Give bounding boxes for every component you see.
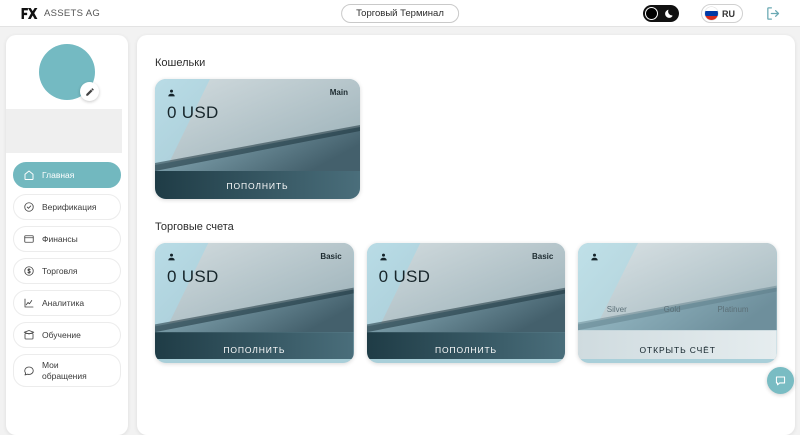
account-card[interactable]: Basic 0 USD ПОПОЛНИТЬ — [155, 243, 354, 363]
wallet-tier-label: Main — [330, 88, 348, 97]
sidebar-item-verification[interactable]: Верификация — [13, 194, 121, 220]
check-circle-icon — [23, 201, 35, 213]
sidebar-item-finances[interactable]: Финансы — [13, 226, 121, 252]
avatar-edit-button[interactable] — [80, 82, 99, 101]
profile-block — [6, 35, 128, 103]
sidebar-item-label: Финансы — [42, 234, 78, 244]
header-actions: RU — [643, 0, 782, 27]
account-balance: 0 USD — [167, 267, 219, 287]
sidebar-item-my-requests[interactable]: Мои обращения — [13, 354, 121, 387]
sidebar-item-label: Верификация — [42, 202, 96, 212]
person-icon — [590, 252, 599, 262]
wallets-section-title: Кошельки — [155, 57, 777, 69]
sidebar-nav: Главная Верификация Финансы Торговля Ана — [6, 153, 128, 395]
sidebar-item-label: Мои обращения — [42, 360, 87, 380]
home-icon — [23, 169, 35, 181]
tier-option-platinum: Platinum — [717, 305, 748, 314]
wallet-balance: 0 USD — [167, 103, 219, 123]
person-icon — [379, 252, 388, 262]
account-balance: 0 USD — [379, 267, 431, 287]
account-tier-label: Basic — [320, 252, 341, 261]
sidebar-item-label: Аналитика — [42, 298, 84, 308]
person-icon — [167, 252, 176, 262]
sidebar-item-analytics[interactable]: Аналитика — [13, 290, 121, 316]
wallet-card[interactable]: Main 0 USD ПОПОЛНИТЬ — [155, 79, 360, 199]
profile-name-placeholder — [6, 109, 122, 153]
language-code: RU — [722, 9, 735, 19]
account-tier-label: Basic — [532, 252, 553, 261]
open-account-card[interactable]: Silver Gold Platinum ОТКРЫТЬ СЧЁТ — [578, 243, 777, 363]
trading-terminal-button[interactable]: Торговый Терминал — [341, 4, 459, 23]
account-card[interactable]: Basic 0 USD ПОПОЛНИТЬ — [367, 243, 566, 363]
chat-bubble-icon — [774, 374, 787, 387]
accounts-section-title: Торговые счета — [155, 221, 777, 233]
avatar[interactable] — [39, 44, 95, 100]
tier-option-gold: Gold — [664, 305, 681, 314]
brand-name: ASSETS AG — [44, 8, 100, 19]
language-selector[interactable]: RU — [701, 4, 743, 23]
sidebar: Главная Верификация Финансы Торговля Ана — [6, 35, 128, 435]
toggle-knob — [645, 7, 658, 20]
sidebar-item-label: Главная — [42, 170, 74, 180]
person-icon — [167, 88, 176, 98]
main-panel: Кошельки — [137, 35, 795, 435]
chart-line-icon — [23, 297, 35, 309]
sidebar-item-label: Обучение — [42, 330, 81, 340]
accounts-card-row: Basic 0 USD ПОПОЛНИТЬ Basic 0 USD ПОПОЛН… — [155, 243, 777, 363]
tier-option-silver: Silver — [607, 305, 627, 314]
ru-flag-icon — [705, 7, 718, 20]
wallet-deposit-button[interactable]: ПОПОЛНИТЬ — [155, 172, 360, 199]
sidebar-item-trading[interactable]: Торговля — [13, 258, 121, 284]
pencil-icon — [85, 87, 95, 97]
chat-widget-button[interactable] — [767, 367, 794, 394]
chat-icon — [23, 365, 35, 377]
account-deposit-button[interactable]: ПОПОЛНИТЬ — [155, 336, 354, 363]
app-header: ASSETS AG Торговый Терминал RU — [0, 0, 800, 27]
brand-logo[interactable]: ASSETS AG — [20, 0, 100, 27]
sidebar-item-label: Торговля — [42, 266, 78, 276]
logout-icon[interactable] — [765, 5, 782, 22]
account-tiers-list: Silver Gold Platinum — [578, 305, 777, 314]
moon-icon — [664, 8, 675, 19]
graduation-icon — [23, 329, 35, 341]
sidebar-item-education[interactable]: Обучение — [13, 322, 121, 348]
wallet-icon — [23, 233, 35, 245]
dark-mode-toggle[interactable] — [643, 5, 679, 22]
fx-logo-icon — [20, 6, 39, 21]
open-account-button[interactable]: ОТКРЫТЬ СЧЁТ — [578, 336, 777, 363]
sidebar-item-home[interactable]: Главная — [13, 162, 121, 188]
dollar-circle-icon — [23, 265, 35, 277]
wallets-card-row: Main 0 USD ПОПОЛНИТЬ — [155, 79, 777, 199]
account-deposit-button[interactable]: ПОПОЛНИТЬ — [367, 336, 566, 363]
